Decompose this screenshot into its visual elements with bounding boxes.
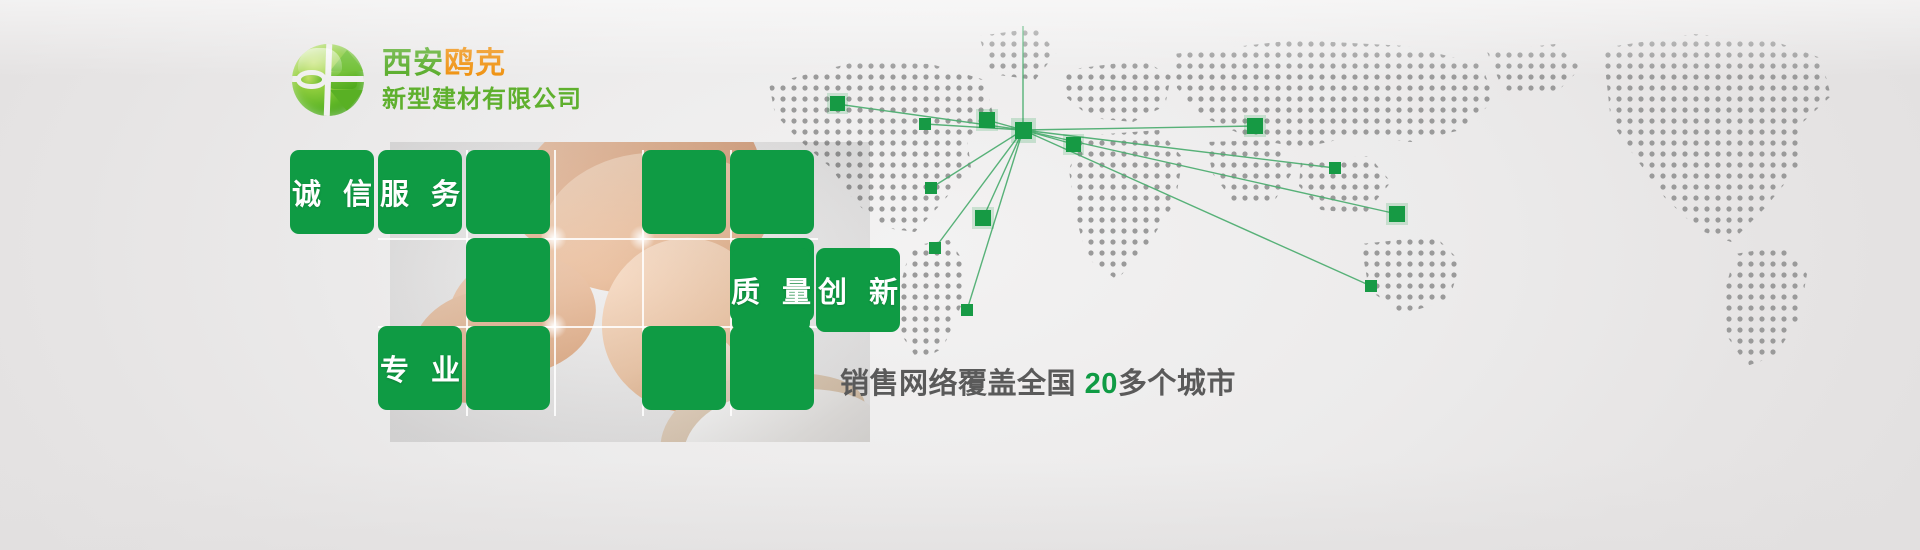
tile-blank[interactable] bbox=[466, 326, 550, 410]
grid-line-vertical bbox=[554, 150, 556, 416]
tagline-prefix: 销售网络覆盖全国 bbox=[840, 368, 1076, 400]
tile-chengxin[interactable]: 诚 信 bbox=[290, 150, 374, 234]
continents bbox=[769, 28, 1831, 366]
tile-label: 质 量 bbox=[724, 269, 818, 311]
tile-blank[interactable] bbox=[642, 150, 726, 234]
company-logo[interactable]: 西安鸥克 新型建材有限公司 bbox=[292, 44, 582, 116]
tagline-city-count: 20 bbox=[1085, 368, 1118, 400]
tile-blank[interactable] bbox=[466, 238, 550, 322]
promo-banner: 诚 信 服 务 专 业 质 量 创 新 bbox=[0, 0, 1920, 550]
central-hub-node bbox=[1011, 118, 1036, 143]
tile-zhiliang[interactable]: 质 量 bbox=[732, 248, 810, 332]
tile-chuangxin[interactable]: 创 新 bbox=[816, 248, 900, 332]
tile-label: 创 新 bbox=[811, 269, 905, 311]
tagline-suffix: 多个城市 bbox=[1118, 368, 1236, 400]
logo-text-block: 西安鸥克 新型建材有限公司 bbox=[382, 49, 582, 112]
tile-blank[interactable] bbox=[466, 150, 550, 234]
tile-blank[interactable] bbox=[730, 326, 814, 410]
tile-blank[interactable] bbox=[642, 326, 726, 410]
tile-blank[interactable] bbox=[730, 150, 814, 234]
tile-zhuanye[interactable]: 专 业 bbox=[378, 326, 462, 410]
logo-city-text: 西安 bbox=[382, 47, 444, 80]
tile-label: 诚 信 bbox=[285, 171, 379, 213]
logo-company-name: 西安鸥克 bbox=[382, 49, 582, 79]
tile-label: 专 业 bbox=[373, 347, 467, 389]
emblem-triangle-bottom-shape bbox=[330, 90, 364, 111]
world-map-svg bbox=[735, 18, 1910, 368]
tile-fuwu[interactable]: 服 务 bbox=[378, 150, 462, 234]
logo-subtitle: 新型建材有限公司 bbox=[382, 88, 582, 112]
sales-network-tagline: 销售网络覆盖全国 20多个城市 bbox=[840, 360, 1236, 402]
emblem-gloss-highlight bbox=[298, 48, 343, 80]
world-map-graphic bbox=[735, 18, 1910, 368]
green-globe-emblem-icon bbox=[292, 44, 364, 116]
logo-brand-text: 鸥克 bbox=[444, 47, 506, 80]
tile-label: 服 务 bbox=[373, 171, 467, 213]
